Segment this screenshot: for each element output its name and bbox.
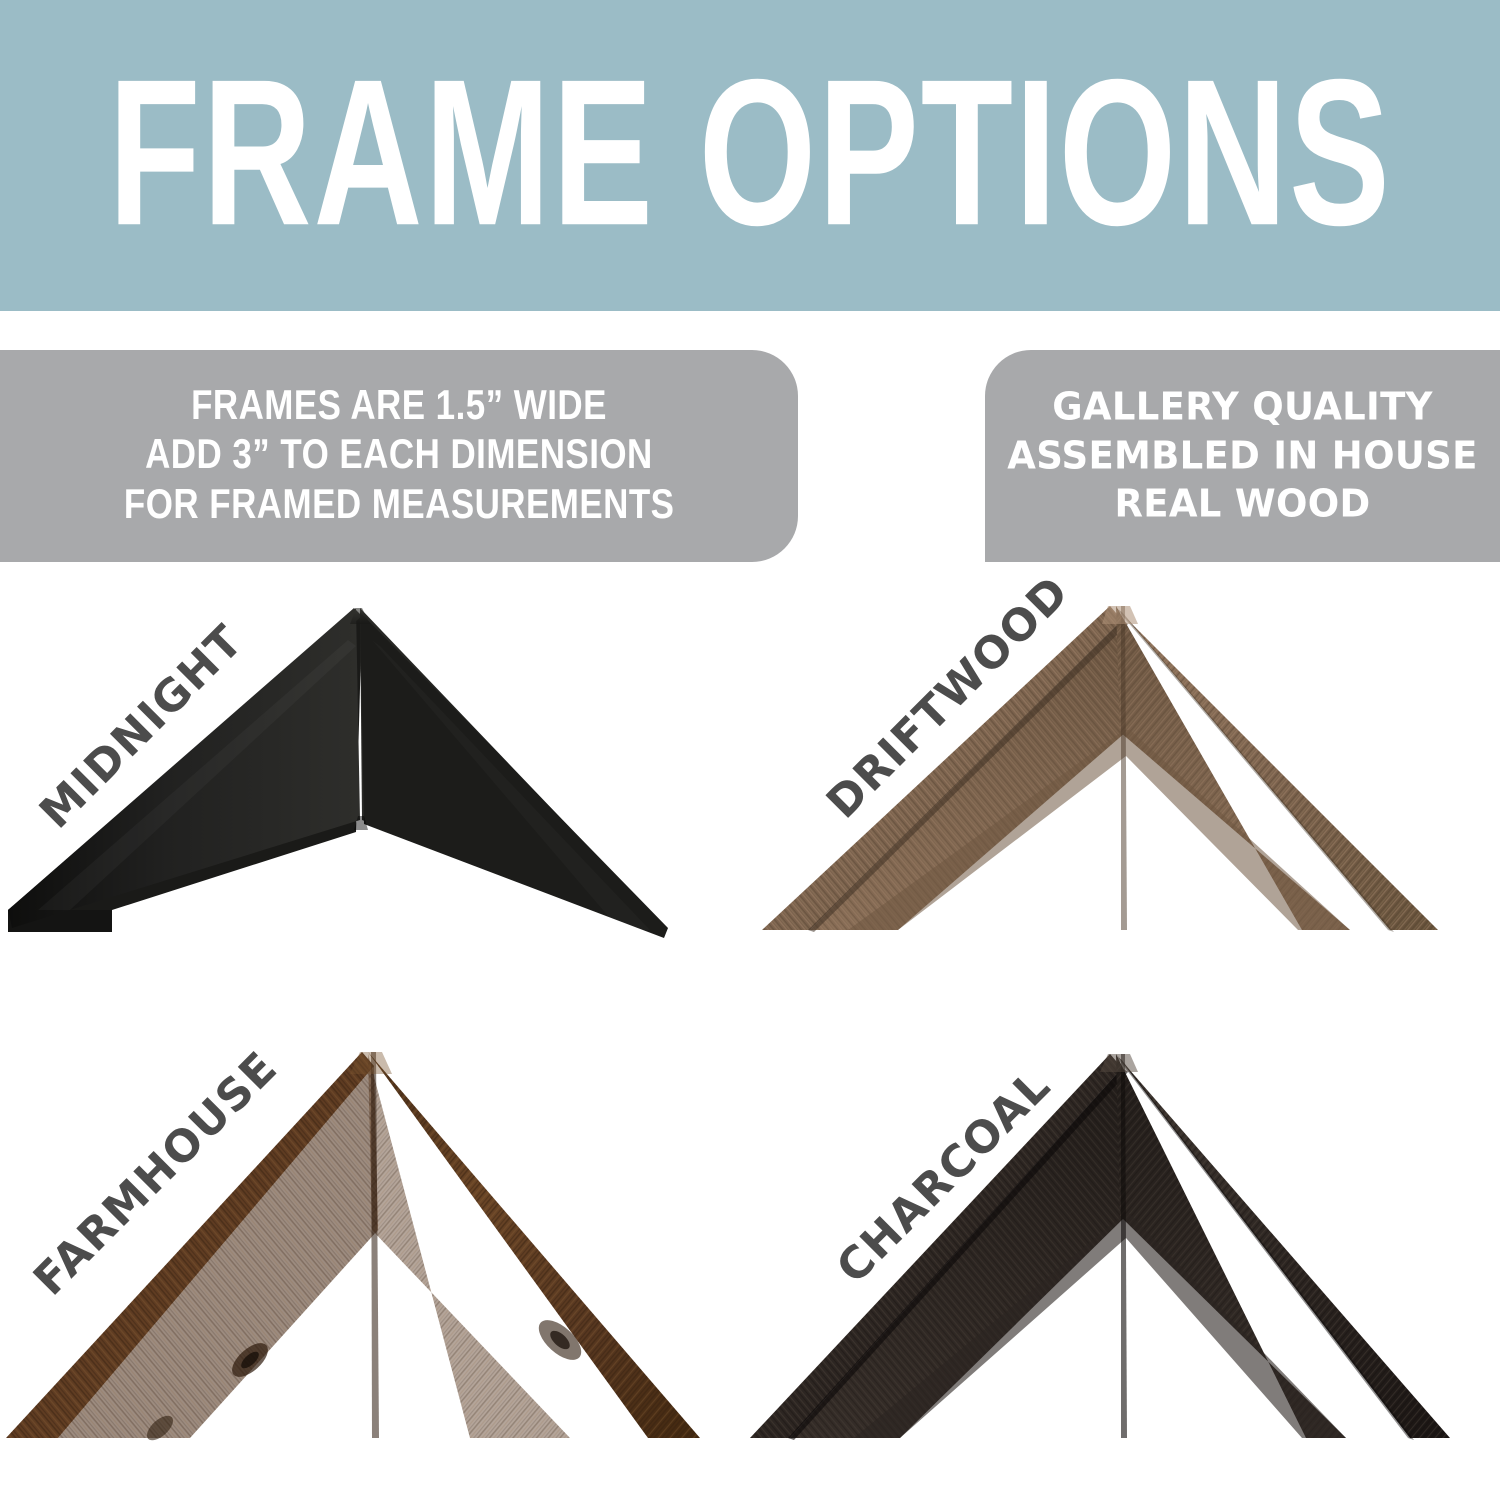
header-band: FRAME OPTIONS: [0, 0, 1500, 311]
page-title: FRAME OPTIONS: [108, 48, 1391, 264]
frame-option-midnight[interactable]: [0, 580, 750, 1040]
banner-left-line-2: ADD 3” TO EACH DIMENSION: [145, 429, 653, 483]
banner-left-line-1: FRAMES ARE 1.5” WIDE: [191, 379, 607, 433]
banner-right-line-1: GALLERY QUALITY: [1052, 382, 1432, 433]
farmhouse-frame-corner-image: [0, 1040, 750, 1500]
banner-quality-info: GALLERY QUALITY ASSEMBLED IN HOUSE REAL …: [985, 350, 1500, 562]
frame-option-farmhouse[interactable]: [0, 1040, 750, 1500]
banner-right-line-3: REAL WOOD: [1115, 479, 1371, 530]
infographic-page: FRAME OPTIONS FRAMES ARE 1.5” WIDE ADD 3…: [0, 0, 1500, 1500]
banner-right-line-2: ASSEMBLED IN HOUSE: [1007, 431, 1477, 482]
banner-left-line-3: FOR FRAMED MEASUREMENTS: [124, 478, 675, 532]
midnight-frame-corner-image: [0, 580, 750, 1040]
banner-sizing-info: FRAMES ARE 1.5” WIDE ADD 3” TO EACH DIME…: [0, 350, 798, 562]
frame-options-grid: [0, 580, 1500, 1500]
